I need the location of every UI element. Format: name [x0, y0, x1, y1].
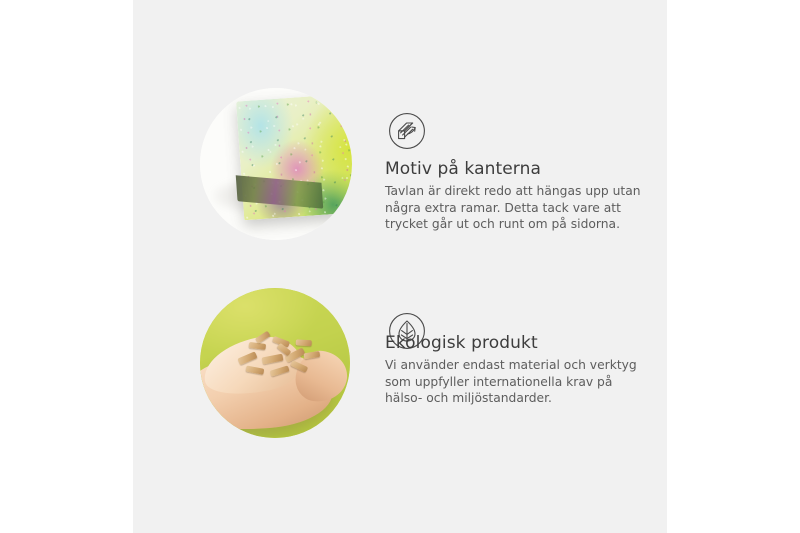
feature-description-eco: Vi använder endast material och verktyg … — [385, 357, 653, 407]
product-features-panel: Motiv på kanterna Tavlan är direkt redo … — [133, 0, 667, 533]
feature-description-edges: Tavlan är direkt redo att hängas upp uta… — [385, 183, 653, 233]
feature-title-edges: Motiv på kanterna — [385, 158, 541, 180]
feature-block-edges: Motiv på kanterna Tavlan är direkt redo … — [133, 70, 667, 260]
canvas-print-photo — [200, 88, 352, 240]
wood-chip-pile — [234, 329, 325, 387]
feature-title-eco: Ekologisk produkt — [385, 332, 538, 354]
canvas-wrapped-edges-icon — [388, 112, 426, 150]
wood-chips-illustration — [200, 288, 350, 438]
screenshot-canvas: Motiv på kanterna Tavlan är direkt redo … — [0, 0, 800, 533]
wood-chips-in-hands-photo — [200, 288, 350, 438]
canvas-print-illustration — [200, 88, 352, 240]
feature-block-eco: Ekologisk produkt Vi använder endast mat… — [133, 270, 667, 460]
